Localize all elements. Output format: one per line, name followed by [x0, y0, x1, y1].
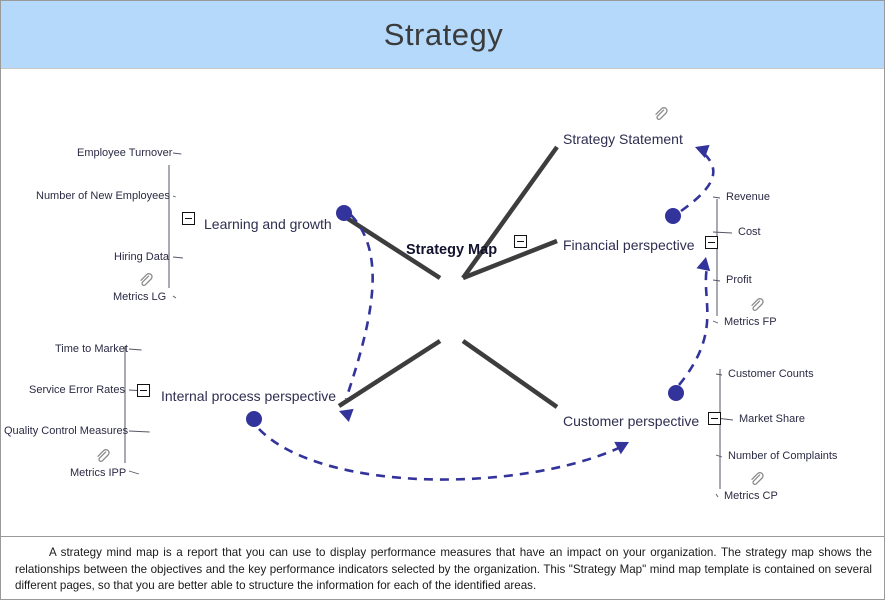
- leaf-node-learning-and-growth-0[interactable]: Employee Turnover: [77, 147, 172, 159]
- attachment-icon-learning-and-growth-3[interactable]: [138, 273, 154, 289]
- relationship-dot-financial-perspective: [665, 208, 681, 224]
- footer-description: A strategy mind map is a report that you…: [1, 536, 885, 600]
- leaf-connector-customer-perspective-3: [716, 494, 718, 497]
- leaf-node-internal-process-perspective-2[interactable]: Quality Control Measures: [4, 425, 128, 437]
- leaf-connector-internal-process-perspective-3: [129, 471, 139, 474]
- root-node-strategy-map[interactable]: Strategy Map: [406, 242, 497, 258]
- relationship-arrowhead-learning-to-internal: [337, 404, 354, 422]
- leaf-node-customer-perspective-3[interactable]: Metrics CP: [724, 490, 778, 502]
- attachment-icon-customer-perspective-3[interactable]: [749, 472, 765, 488]
- leaf-connector-learning-and-growth-1: [173, 196, 176, 197]
- relationship-curve-internal-to-customer: [259, 429, 621, 480]
- leaf-node-customer-perspective-0[interactable]: Customer Counts: [728, 368, 814, 380]
- relationship-curve-customer-to-financial: [679, 267, 707, 385]
- relationship-dot-customer-perspective: [668, 385, 684, 401]
- branch-node-internal-process-perspective[interactable]: Internal process perspective: [161, 388, 336, 404]
- leaf-node-internal-process-perspective-3[interactable]: Metrics IPP: [70, 467, 126, 479]
- relationship-curve-financial-to-strategy-statement: [681, 151, 713, 211]
- leaf-connector-financial-perspective-3: [713, 321, 718, 323]
- leaf-node-financial-perspective-2[interactable]: Profit: [726, 274, 752, 286]
- leaf-connector-financial-perspective-0: [713, 197, 720, 198]
- leaf-node-financial-perspective-0[interactable]: Revenue: [726, 191, 770, 203]
- leaf-connector-learning-and-growth-2: [173, 257, 183, 258]
- leaf-node-financial-perspective-3[interactable]: Metrics FP: [724, 316, 777, 328]
- leaf-node-learning-and-growth-1[interactable]: Number of New Employees: [36, 190, 170, 202]
- leaf-connector-internal-process-perspective-2: [129, 431, 150, 432]
- relationship-dot-learning-and-growth: [336, 205, 352, 221]
- root-collapse-toggle[interactable]: [514, 235, 527, 248]
- mindmap-canvas[interactable]: Strategy MapLearning and growthEmployee …: [1, 69, 885, 535]
- attachment-icon-internal-process-perspective-3[interactable]: [95, 449, 111, 465]
- leaf-node-internal-process-perspective-0[interactable]: Time to Market: [55, 343, 128, 355]
- collapse-toggle-learning-and-growth[interactable]: [182, 212, 195, 225]
- leaf-connector-learning-and-growth-0: [173, 153, 181, 154]
- leaf-connector-learning-and-growth-3: [173, 296, 176, 298]
- leaf-connector-internal-process-perspective-0: [129, 349, 142, 350]
- collapse-toggle-customer-perspective[interactable]: [708, 412, 721, 425]
- branch-spine-lines: [125, 165, 720, 489]
- relationship-dot-internal-process-perspective: [246, 411, 262, 427]
- relationship-curve-learning-to-internal: [346, 215, 373, 399]
- branch-node-strategy-statement[interactable]: Strategy Statement: [563, 131, 683, 147]
- relationship-arrowhead-customer-to-financial: [696, 256, 712, 272]
- leaf-connector-customer-perspective-0: [716, 374, 722, 375]
- leaf-node-customer-perspective-2[interactable]: Number of Complaints: [728, 450, 837, 462]
- collapse-toggle-financial-perspective[interactable]: [705, 236, 718, 249]
- attachment-icon-strategy-statement[interactable]: [653, 107, 669, 123]
- branch-node-financial-perspective[interactable]: Financial perspective: [563, 237, 695, 253]
- leaf-connector-customer-perspective-2: [716, 455, 722, 457]
- strategy-mindmap-page: Strategy Strategy MapLearning and growth…: [0, 0, 885, 600]
- branch-node-customer-perspective[interactable]: Customer perspective: [563, 413, 699, 429]
- attachment-icon-financial-perspective-3[interactable]: [749, 298, 765, 314]
- leaf-node-financial-perspective-1[interactable]: Cost: [738, 226, 761, 238]
- leaf-node-learning-and-growth-3[interactable]: Metrics LG: [113, 291, 166, 303]
- branch-line-customer-perspective: [463, 341, 557, 407]
- leaf-node-learning-and-growth-2[interactable]: Hiring Data: [114, 251, 169, 263]
- branch-node-learning-and-growth[interactable]: Learning and growth: [204, 216, 332, 232]
- leaf-node-customer-perspective-1[interactable]: Market Share: [739, 413, 805, 425]
- page-header-bar: Strategy: [1, 1, 885, 69]
- relationship-arrowhead-internal-to-customer: [614, 436, 632, 454]
- collapse-toggle-internal-process-perspective[interactable]: [137, 384, 150, 397]
- page-title: Strategy: [1, 1, 885, 69]
- leaf-node-internal-process-perspective-1[interactable]: Service Error Rates: [29, 384, 125, 396]
- leaf-connector-lines: [129, 153, 733, 497]
- leaf-connector-financial-perspective-1: [713, 232, 732, 233]
